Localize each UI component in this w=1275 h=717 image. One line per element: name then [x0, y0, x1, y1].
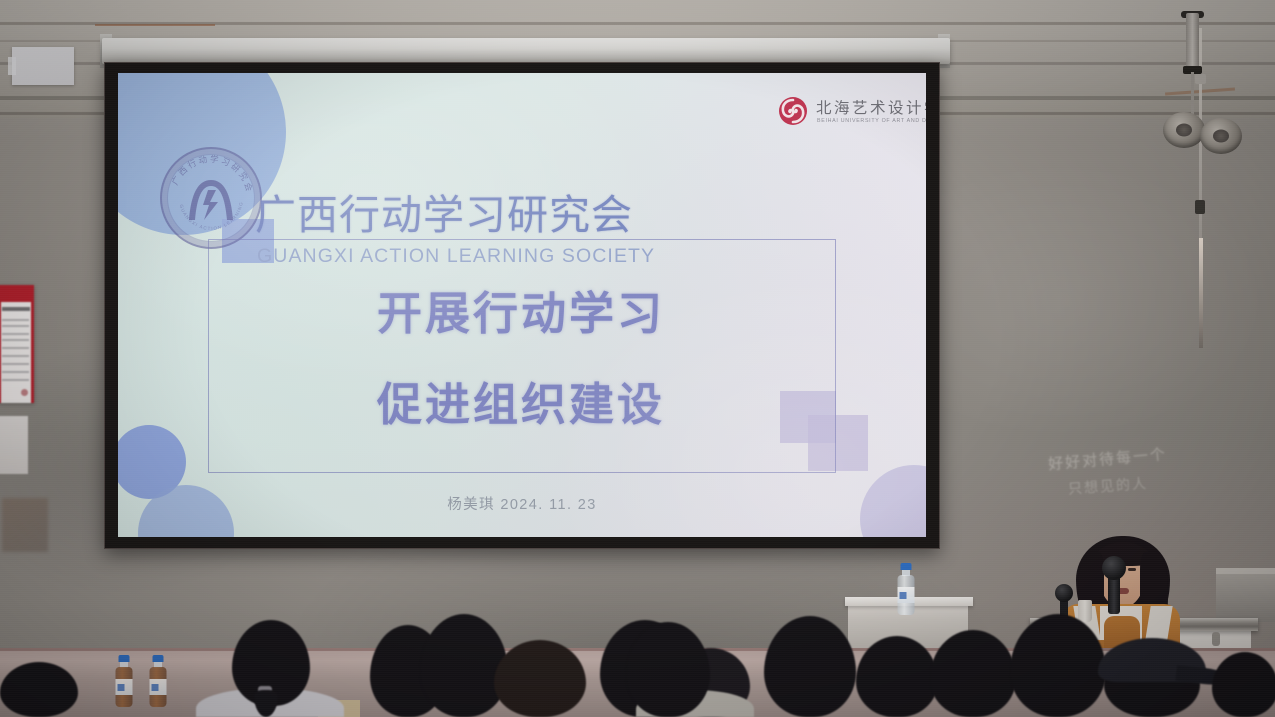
audience-head	[494, 640, 586, 717]
svg-text:GUANGXI ACTION LEARNING SOCIET: GUANGXI ACTION LEARNING SOCIETY	[162, 149, 244, 231]
poster-text-line	[2, 325, 29, 327]
bottle-label	[150, 679, 167, 695]
presentation-slide: 广西行动学习研究会 GUANGXI ACTION LEARNING SOCIET…	[118, 73, 926, 537]
title-frame	[208, 239, 836, 473]
wall-stain	[95, 24, 215, 26]
presenter-eye	[1128, 568, 1136, 571]
poster-header-band	[0, 285, 34, 302]
bottle-label	[116, 679, 133, 695]
projection-screen: 广西行动学习研究会 GUANGXI ACTION LEARNING SOCIET…	[104, 62, 940, 549]
audience-head	[856, 636, 938, 717]
water-bottle	[896, 563, 916, 617]
second-microphone-icon	[1055, 584, 1073, 602]
poster-edge	[31, 302, 34, 403]
slide-byline: 杨美琪 2024. 11. 23	[118, 493, 926, 514]
bottle-cap	[119, 655, 130, 662]
poster-title-bar	[2, 307, 30, 311]
lectern-knob	[1212, 632, 1220, 646]
wall-patch	[2, 498, 48, 552]
screen-roller-housing	[102, 38, 950, 64]
poster-text-line	[2, 339, 29, 341]
notice-poster	[0, 285, 34, 403]
decorative-square-right	[780, 391, 836, 443]
speaker-mount-arm	[1191, 72, 1194, 116]
poster-text-line	[2, 319, 29, 321]
slide-title-block: 开展行动学习 促进组织建设	[208, 239, 834, 471]
rod-clip	[1195, 74, 1206, 84]
lecture-hall-photo: 好好对待每一个 只想见的人	[0, 0, 1275, 717]
poster-text-line	[2, 379, 29, 381]
ceiling-speaker-icon	[1200, 118, 1242, 154]
decorative-circle-bottom-left	[118, 425, 186, 499]
university-name-cn: 北海艺术设计学院	[816, 96, 926, 118]
equipment-box	[1216, 574, 1275, 622]
bottle-cap	[901, 563, 912, 570]
secondary-poster	[0, 416, 28, 474]
decorative-circle-bottom-left	[138, 485, 234, 537]
ceiling-speaker-icon	[1163, 112, 1205, 148]
audience-head	[0, 662, 78, 717]
poster-text-line	[2, 333, 29, 335]
decorative-square-header	[222, 219, 274, 263]
poster-text-line	[2, 363, 29, 365]
audience-head	[1212, 652, 1275, 717]
audience-head	[930, 630, 1016, 717]
decorative-circle-top-left	[118, 73, 286, 235]
slide-organization-name-cn: 广西行动学习研究会	[255, 195, 633, 236]
poster-text-line	[2, 355, 29, 357]
water-bottle	[147, 655, 169, 717]
hanging-rod-lower	[1199, 238, 1203, 348]
projector-glare	[118, 73, 926, 537]
decorative-square-right	[808, 415, 868, 471]
slide-title-line-1: 开展行动学习	[377, 277, 665, 342]
guangxi-action-learning-seal-icon: 广西行动学习研究会 GUANGXI ACTION LEARNING SOCIET…	[160, 147, 262, 249]
slide-organization-name-en: GUANGXI ACTION LEARNING SOCIETY	[257, 245, 655, 268]
audience-head	[626, 622, 710, 717]
poster-edge	[0, 302, 1, 403]
poster-text-line	[2, 347, 29, 349]
microphone-icon	[1102, 556, 1126, 580]
taped-paper	[12, 47, 74, 85]
cup-on-lectern	[1078, 600, 1092, 622]
beihai-university-logo: 北海艺术设计学院 BEIHAI UNIVERSITY OF ART AND DE…	[778, 94, 926, 134]
decorative-circle-bottom-right	[860, 465, 926, 537]
university-name-en: BEIHAI UNIVERSITY OF ART AND DESIGN	[817, 118, 926, 124]
svg-text:广西行动学习研究会: 广西行动学习研究会	[170, 154, 255, 195]
bottle-cap	[153, 655, 164, 662]
water-bottle	[113, 655, 135, 717]
slide-title-line-2: 促进组织建设	[377, 368, 665, 433]
poster-text-line	[2, 371, 29, 373]
speaker-mount-stem	[1186, 13, 1199, 71]
poster-seal-stamp	[21, 389, 28, 396]
beihai-swirl-mark-icon	[778, 96, 808, 126]
bottle-label	[898, 587, 915, 603]
rod-clip	[1195, 200, 1205, 214]
